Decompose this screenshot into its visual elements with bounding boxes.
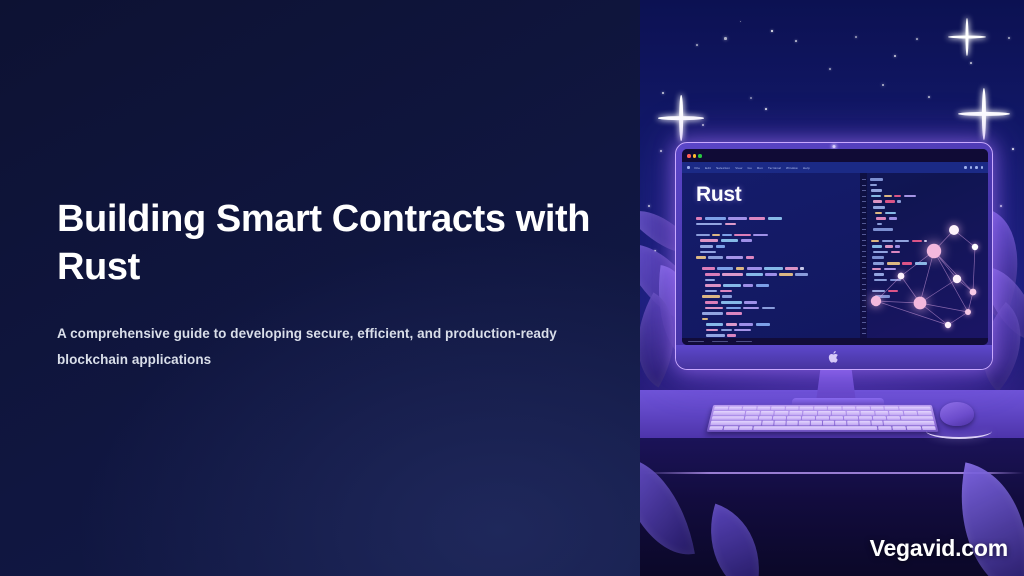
keyboard-key[interactable] [856,407,870,411]
code-token [721,329,732,332]
star-dot [765,108,767,110]
keyboard-key[interactable] [762,421,774,425]
keyboard-key[interactable] [799,421,810,425]
keyboard-key[interactable] [847,411,861,415]
code-token [743,284,753,287]
code-line [696,228,852,231]
code-token [706,334,725,337]
graph-edge [876,276,901,301]
close-dot[interactable] [687,154,691,158]
star-dot [724,37,727,40]
code-token [726,307,741,310]
graph-node[interactable] [914,297,927,310]
keyboard-key[interactable] [802,416,815,420]
ide-menu-item[interactable]: Window [786,166,798,170]
keyboard-key[interactable] [787,421,798,425]
keyboard-key[interactable] [859,421,870,425]
keyboard-key[interactable] [760,411,774,415]
keyboard-key[interactable] [799,407,812,411]
code-token [722,295,732,298]
code-line [696,217,852,220]
code-token [726,312,742,315]
graph-edge [973,247,975,292]
ide-menubar[interactable]: FileEditSelectionViewGoRunTerminalWindow… [682,162,988,173]
keyboard-key[interactable] [744,416,758,420]
wifi-icon [964,166,967,169]
keyboard-key[interactable] [861,411,875,415]
code-line [702,267,852,270]
keyboard-key[interactable] [907,426,921,430]
code-token [779,273,793,276]
code-line [696,234,852,237]
code-token [723,284,740,287]
code-token [702,312,723,315]
star-dot [1012,148,1014,150]
code-token [712,234,719,237]
webcam-icon [833,145,836,148]
maximize-dot[interactable] [698,154,702,158]
keyboard-key[interactable] [871,421,883,425]
code-token [706,323,723,326]
keyboard-key[interactable] [818,411,831,415]
star-dot [771,30,773,32]
star-dot [829,68,831,70]
code-line [705,301,852,304]
keyboard-key[interactable] [844,416,857,420]
keyboard-key[interactable] [753,426,877,430]
code-token [717,267,733,270]
left-content-panel: Building Smart Contracts with Rust A com… [0,0,640,576]
code-token [765,273,776,276]
status-branch [688,341,704,342]
keyboard-key[interactable] [816,416,829,420]
code-line [702,318,852,321]
keyboard-key[interactable] [746,411,760,415]
ide-menu-item[interactable]: Run [757,166,763,170]
battery-icon [970,166,973,169]
monitor-screen: FileEditSelectionViewGoRunTerminalWindow… [682,149,988,345]
graph-node[interactable] [949,225,959,235]
clock-icon [975,166,978,169]
code-line [700,239,852,242]
keyboard-key[interactable] [714,407,728,411]
code-line [705,273,852,276]
keyboard-key[interactable] [877,426,891,430]
code-token [739,323,753,326]
code-token [785,267,797,270]
ide-menu-item[interactable]: View [735,166,742,170]
keyboard-key[interactable] [775,411,789,415]
code-line [706,329,852,332]
code-line [702,295,852,298]
code-token [705,279,715,282]
code-token [716,245,725,248]
code-line [705,284,852,287]
graph-node[interactable] [898,273,905,280]
code-token [746,273,763,276]
star-dot [855,36,857,38]
code-token [700,251,716,254]
star-dot [662,92,664,94]
ide-menu-item[interactable]: Terminal [768,166,781,170]
code-line [696,262,852,265]
keyboard-key[interactable] [918,411,932,415]
keyboard-row [710,421,934,425]
illustration-panel: FileEditSelectionViewGoRunTerminalWindow… [640,0,1024,576]
code-token [708,256,723,259]
code-token [756,323,771,326]
keyboard-key[interactable] [847,421,858,425]
graph-node[interactable] [945,322,951,328]
monitor-chin [676,345,992,369]
apple-menu-icon[interactable] [687,166,690,169]
star-dot [648,205,650,207]
keyboard-key[interactable] [842,407,855,411]
graph-edge [876,301,948,325]
graph-node[interactable] [927,244,941,258]
keyboard-key[interactable] [892,426,906,430]
code-token [727,334,736,337]
keyboard-key[interactable] [814,407,827,411]
code-token [726,256,743,259]
rust-code-lines [696,217,852,345]
keyboard-key[interactable] [785,407,798,411]
code-token [702,318,708,321]
star-dot [660,150,662,152]
page-subtitle: A comprehensive guide to developing secu… [57,321,582,374]
keyboard-key[interactable] [823,421,834,425]
keyboard-key[interactable] [771,407,785,411]
keyboard-key[interactable] [713,411,746,415]
graph-node[interactable] [871,296,881,306]
keyboard-key[interactable] [858,416,872,420]
code-token [702,295,719,298]
code-line [705,307,852,310]
code-token [741,239,752,242]
code-token [747,267,762,270]
graph-edge [876,301,920,303]
keyboard-key[interactable] [832,411,845,415]
brand-watermark: Vegavid.com [870,535,1008,562]
code-line [696,223,852,226]
keyboard-key[interactable] [789,411,803,415]
keyboard-key[interactable] [759,416,773,420]
code-token [722,273,743,276]
imac-monitor: FileEditSelectionViewGoRunTerminalWindow… [675,142,993,370]
code-token [705,290,717,293]
graph-edge [920,303,968,312]
star-dot [1000,205,1002,207]
code-token [705,284,721,287]
keyboard-key[interactable] [901,416,934,420]
ide-rust-heading: Rust [696,183,852,207]
code-token [753,234,768,237]
code-token [696,234,710,237]
code-token [696,256,706,259]
code-token [795,273,807,276]
star-dot [882,84,884,86]
keyboard-key[interactable] [710,421,762,425]
sparkle-star-icon [948,18,986,56]
network-graph-svg [860,173,988,345]
keyboard-key[interactable] [870,407,884,411]
code-token [696,223,722,226]
keyboard-key[interactable] [875,411,889,415]
code-token [705,307,724,310]
code-token [800,267,804,270]
star-dot [740,21,741,22]
code-token [705,217,726,220]
ide-menu-item[interactable]: File [695,166,701,170]
keyboard-key[interactable] [811,421,822,425]
star-dot [795,40,797,42]
page-title: Building Smart Contracts with Rust [57,196,597,291]
code-token [768,217,782,220]
graph-node[interactable] [972,244,978,250]
keyboard-row [712,416,934,420]
network-graph-pane[interactable] [860,173,988,345]
ide-menu-item[interactable]: Selection [716,166,730,170]
code-token [700,239,719,242]
search-icon [981,166,984,169]
keyboard-key[interactable] [889,411,903,415]
code-token [720,290,732,293]
code-token [744,301,756,304]
minimize-dot[interactable] [693,154,697,158]
keyboard-key[interactable] [775,421,786,425]
keyboard-key[interactable] [787,416,800,420]
code-token [726,323,737,326]
star-dot [970,62,972,64]
star-dot [750,97,752,99]
graph-node[interactable] [953,275,961,283]
code-token [700,245,714,248]
code-line [696,256,852,259]
keyboard-key[interactable] [742,407,756,411]
ide-titlebar [682,149,988,162]
sparkle-star-icon [958,88,1010,140]
code-token [696,217,702,220]
code-line [706,334,852,337]
ide-menubar-status-icons[interactable] [964,166,983,169]
code-token [706,329,718,332]
code-token [721,239,738,242]
keyboard-key[interactable] [724,426,738,430]
code-token [762,307,776,310]
code-line [702,312,852,315]
code-token [746,256,755,259]
keyboard-key[interactable] [873,416,887,420]
keyboard-row [713,411,933,415]
mouse[interactable] [940,402,974,426]
star-dot [696,44,698,46]
code-line [705,279,852,282]
code-token [734,329,750,332]
keyboard-key[interactable] [835,421,846,425]
code-token [764,267,783,270]
code-token [749,217,765,220]
keyboard-key[interactable] [830,416,843,420]
keyboard-key[interactable] [757,407,771,411]
keyboard-key[interactable] [739,426,753,430]
ide-menu-item[interactable]: Go [748,166,752,170]
keyboard-key[interactable] [709,426,724,430]
code-line [705,290,852,293]
code-line [706,323,852,326]
code-line [700,245,852,248]
code-token [702,267,714,270]
star-dot [916,38,918,40]
code-token [705,301,719,304]
code-token [722,234,732,237]
status-errors [712,341,728,342]
keyboard-key[interactable] [804,411,817,415]
code-token [743,307,759,310]
code-token [756,284,770,287]
ide-menu-item[interactable]: Help [803,166,810,170]
star-dot [1008,37,1010,39]
graph-nodes [871,225,978,328]
code-token [734,234,750,237]
star-dot [894,55,896,57]
keyboard-key[interactable] [728,407,742,411]
code-line [700,251,852,254]
sparkle-star-icon [658,95,704,141]
keyboard-key[interactable] [904,411,918,415]
star-dot [928,96,930,98]
code-editor-pane[interactable]: Rust [682,173,860,345]
title-block: Building Smart Contracts with Rust A com… [57,196,597,374]
apple-logo-icon [828,350,841,364]
keyboard-key[interactable] [828,407,841,411]
keyboard-key[interactable] [887,416,901,420]
ide-statusbar [682,338,988,345]
code-token [728,217,747,220]
code-token [725,223,736,226]
graph-edge [948,312,968,325]
presentation-slide: Building Smart Contracts with Rust A com… [0,0,1024,576]
code-token [705,273,720,276]
ide-menu-item[interactable]: Edit [705,166,711,170]
code-token [736,267,745,270]
keyboard[interactable] [707,405,939,432]
code-token [721,301,742,304]
graph-node[interactable] [965,309,971,315]
keyboard-key[interactable] [773,416,787,420]
status-language-mode [736,341,752,342]
keyboard-key[interactable] [884,407,898,411]
keyboard-row [714,407,931,411]
keyboard-key[interactable] [712,416,745,420]
graph-node[interactable] [970,289,977,296]
keyboard-row [709,426,936,430]
keyboard-key[interactable] [899,407,932,411]
